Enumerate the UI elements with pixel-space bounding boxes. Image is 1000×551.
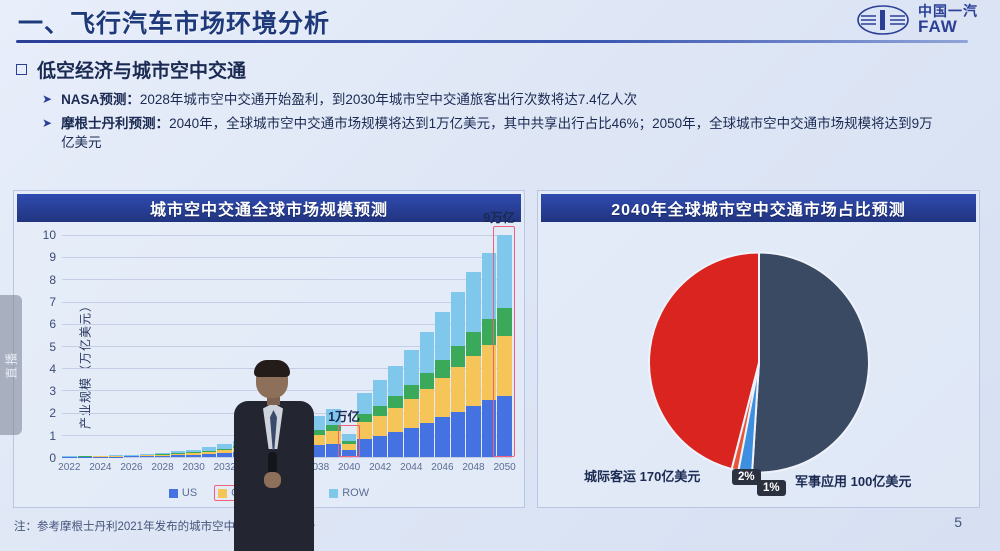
y-axis-tick: 3	[49, 384, 56, 398]
bar-column	[171, 235, 186, 457]
bar-segment-eu	[420, 373, 435, 389]
legend-swatch	[281, 489, 290, 498]
bar-segment-us	[233, 452, 248, 457]
legend-label: China	[231, 487, 260, 499]
bar-segment-us	[497, 396, 512, 457]
y-axis-tick: 10	[43, 228, 56, 242]
bar-column	[202, 235, 217, 457]
bar-segment-us	[342, 450, 357, 457]
bar-segment-row	[435, 312, 450, 360]
x-axis-tick: 2026	[120, 462, 142, 473]
pie-callout-value: 100亿美元	[851, 474, 912, 489]
faw-logo-icon	[856, 4, 910, 36]
brand-text: 中国一汽 FAW	[918, 4, 978, 36]
pie-chart-title: 2040年全球城市空中交通市场占比预测	[541, 194, 976, 222]
bar-segment-china	[420, 389, 435, 423]
bar-segment-china	[482, 345, 497, 401]
pie-chart: 货物运输5170亿美元51%共享出行4570亿美元46%城际客运 170亿美元2…	[542, 225, 975, 503]
x-axis-tick: 2022	[58, 462, 80, 473]
bar-segment-china	[466, 356, 481, 406]
bar-column: 2030	[186, 235, 201, 457]
bar-segment-china	[451, 367, 466, 411]
x-axis-tick: 2038	[307, 462, 329, 473]
bar-segment-us	[124, 456, 139, 457]
bar-plot-area: 012345678910 202220242026202820302032203…	[62, 235, 512, 457]
bar-chart-legend: USChinaEUROW	[18, 485, 520, 501]
bar-column: 2024	[93, 235, 108, 457]
bar-segment-us	[264, 450, 279, 457]
x-axis-tick: 2036	[276, 462, 298, 473]
bar-segment-row	[451, 292, 466, 346]
bar-segment-china	[404, 399, 419, 428]
bullet-text: NASA预测：2028年城市空中交通开始盈利，到2030年城市空中交通旅客出行次…	[61, 90, 637, 110]
y-axis-tick: 5	[49, 340, 56, 354]
bar-segment-us	[295, 447, 310, 457]
x-axis-tick: 2048	[462, 462, 484, 473]
bar-column	[78, 235, 93, 457]
bar-segment-us	[466, 406, 481, 457]
bar-column: 2028	[155, 235, 170, 457]
legend-label: ROW	[342, 487, 369, 499]
y-axis-tick: 6	[49, 317, 56, 331]
bar-column: 2026	[124, 235, 139, 457]
bar-segment-row	[482, 253, 497, 318]
bar-segment-us	[186, 455, 201, 457]
bar-segment-us	[140, 456, 155, 457]
bar-segment-china	[280, 441, 295, 449]
bar-segment-china	[295, 438, 310, 447]
bar-column	[233, 235, 248, 457]
bar-column: 2022	[62, 235, 77, 457]
bar-segment-row	[420, 332, 435, 373]
bar-segment-row	[373, 380, 388, 406]
bar-segment-eu	[373, 406, 388, 416]
x-axis-tick: 2040	[338, 462, 360, 473]
bar-chart-panel: 城市空中交通全球市场规模预测 产业规模（万亿美元） 012345678910 2…	[13, 190, 525, 508]
bar-segment-eu	[482, 319, 497, 345]
legend-item-row[interactable]: ROW	[326, 486, 372, 500]
bar-column: 2048	[466, 235, 481, 457]
page-title: 一、飞行汽车市场环境分析	[18, 4, 330, 40]
bar-segment-row	[249, 437, 264, 444]
bar-segment-us	[326, 444, 341, 457]
bar-column: 2050	[497, 235, 512, 457]
bar-column	[109, 235, 124, 457]
bar-segment-china	[388, 408, 403, 432]
bar-column: 2032	[217, 235, 232, 457]
bar-segment-us	[155, 456, 170, 457]
side-tab-label: 直播	[3, 351, 20, 379]
legend-swatch	[329, 489, 338, 498]
bar-segment-eu	[435, 360, 450, 378]
pie-svg	[643, 247, 875, 479]
y-axis-tick: 0	[49, 451, 56, 465]
x-axis-tick: 2034	[245, 462, 267, 473]
bar-segment-row	[466, 272, 481, 332]
bullet-lead: NASA预测：	[61, 92, 140, 107]
bar-segment-us	[357, 439, 372, 457]
bar-segment-us	[373, 436, 388, 457]
bar-segment-us	[388, 432, 403, 457]
bullet-body-text: 2040年，全球城市空中交通市场规模将达到1万亿美元，其中共享出行占比46%；2…	[61, 116, 933, 151]
bar-segment-china	[373, 416, 388, 436]
title-divider	[16, 40, 968, 43]
bar-column	[295, 235, 310, 457]
x-axis-tick: 2046	[431, 462, 453, 473]
bar-segment-us	[404, 428, 419, 457]
bar-column	[264, 235, 279, 457]
gridline: 0	[62, 457, 512, 458]
bar-column	[388, 235, 403, 457]
bar-segment-row	[404, 350, 419, 386]
bar-chart-title: 城市空中交通全球市场规模预测	[17, 194, 521, 222]
bar-segment-china	[326, 431, 341, 443]
bar-segment-us	[311, 445, 326, 457]
bar-column	[451, 235, 466, 457]
pie-callout-value: 170亿美元	[640, 469, 701, 484]
y-axis-tick: 8	[49, 273, 56, 287]
square-bullet-icon	[16, 64, 27, 75]
y-axis-tick: 4	[49, 362, 56, 376]
page-number: 5	[954, 514, 962, 530]
bar-column: 2046	[435, 235, 450, 457]
x-axis-tick: 2050	[493, 462, 515, 473]
pie-callout-label: 城际客运	[584, 469, 640, 484]
y-axis-tick: 9	[49, 250, 56, 264]
x-axis-tick: 2030	[183, 462, 205, 473]
brand-name-cn: 中国一汽	[918, 4, 978, 18]
y-axis-tick: 7	[49, 295, 56, 309]
slide-header: 一、飞行汽车市场环境分析 中国一汽 FAW	[0, 0, 1000, 50]
bar-column	[482, 235, 497, 457]
pie-chart-panel: 2040年全球城市空中交通市场占比预测 货物运输5170亿美元51%共享出行45…	[537, 190, 980, 508]
legend-label: EU	[294, 487, 309, 499]
bar-segment-row	[280, 427, 295, 437]
x-axis-tick: 2032	[214, 462, 236, 473]
bar-column: 2034	[249, 235, 264, 457]
bar-segment-row	[497, 235, 512, 308]
bar-column: 2042	[373, 235, 388, 457]
y-axis-tick: 2	[49, 406, 56, 420]
arrow-bullet-icon: ➤	[42, 90, 52, 110]
legend-label: US	[182, 487, 197, 499]
bar-segment-eu	[388, 396, 403, 408]
bar-segment-china	[311, 435, 326, 446]
bar-annotation-label: 1万亿	[328, 406, 360, 425]
bullet-text: 摩根士丹利预测：2040年，全球城市空中交通市场规模将达到1万亿美元，其中共享出…	[61, 114, 941, 153]
bullet-lead: 摩根士丹利预测：	[61, 116, 169, 131]
arrow-bullet-icon: ➤	[42, 114, 52, 153]
bar-series-container: 2022202420262028203020322034203620382040…	[62, 235, 512, 457]
bar-segment-us	[280, 449, 295, 457]
legend-swatch	[169, 489, 178, 498]
bar-segment-eu	[466, 332, 481, 356]
bar-segment-row	[388, 366, 403, 396]
side-tab[interactable]: 直播	[0, 295, 22, 435]
x-axis-tick: 2024	[89, 462, 111, 473]
bar-segment-row	[264, 432, 279, 440]
legend-item-eu[interactable]: EU	[278, 486, 312, 500]
pie-callout-2: 城际客运 170亿美元	[584, 468, 700, 486]
x-axis-tick: 2028	[151, 462, 173, 473]
bar-column	[420, 235, 435, 457]
bar-segment-eu	[497, 308, 512, 336]
bar-chart-body: 产业规模（万亿美元） 012345678910 2022202420262028…	[18, 225, 520, 503]
y-axis-tick: 1	[49, 429, 56, 443]
bar-segment-us	[482, 400, 497, 457]
legend-swatch	[218, 489, 227, 498]
footnote: 注：参考摩根士丹利2021年发布的城市空中交通的研究报告	[14, 518, 316, 534]
pie-slice-0[interactable]	[752, 253, 869, 473]
bullet-item: ➤ NASA预测：2028年城市空中交通开始盈利，到2030年城市空中交通旅客出…	[42, 90, 976, 110]
bar-column: 2038	[311, 235, 326, 457]
brand-name-en: FAW	[918, 18, 978, 35]
bar-segment-row	[342, 434, 357, 441]
bar-segment-eu	[404, 385, 419, 399]
bar-segment-us	[451, 412, 466, 458]
bar-segment-us	[217, 453, 232, 457]
bar-segment-china	[497, 336, 512, 396]
pie-chart-body: 货物运输5170亿美元51%共享出行4570亿美元46%城际客运 170亿美元2…	[542, 225, 975, 503]
bar-segment-us	[435, 417, 450, 457]
bar-segment-us	[202, 454, 217, 457]
bar-segment-us	[171, 455, 186, 457]
bar-segment-us	[249, 451, 264, 457]
bar-column: 2044	[404, 235, 419, 457]
pie-callout-label: 军事应用	[795, 474, 851, 489]
bar-segment-row	[295, 422, 310, 434]
bar-column: 2036	[280, 235, 295, 457]
x-axis-tick: 2042	[369, 462, 391, 473]
bullet-content: 低空经济与城市空中交通 ➤ NASA预测：2028年城市空中交通开始盈利，到20…	[16, 56, 976, 157]
section-heading-label: 低空经济与城市空中交通	[37, 56, 246, 83]
x-axis-tick: 2044	[400, 462, 422, 473]
section-heading: 低空经济与城市空中交通	[16, 56, 976, 83]
bar-chart: 产业规模（万亿美元） 012345678910 2022202420262028…	[18, 225, 520, 503]
legend-item-china[interactable]: China	[214, 485, 264, 501]
bar-annotation-label: 9万亿	[483, 207, 515, 226]
pie-graphic	[643, 247, 875, 484]
pie-callout-3: 军事应用 100亿美元	[795, 473, 911, 491]
bar-segment-eu	[451, 346, 466, 367]
legend-item-us[interactable]: US	[166, 486, 200, 500]
bullet-body-text: 2028年城市空中交通开始盈利，到2030年城市空中交通旅客出行次数将达7.4亿…	[140, 92, 637, 107]
bullet-item: ➤ 摩根士丹利预测：2040年，全球城市空中交通市场规模将达到1万亿美元，其中共…	[42, 114, 976, 153]
bar-segment-us	[420, 423, 435, 457]
bar-segment-row	[311, 416, 326, 430]
pie-percent-badge-3: 1%	[757, 480, 786, 496]
bar-column	[140, 235, 155, 457]
brand-logo: 中国一汽 FAW	[856, 2, 978, 38]
bar-segment-china	[435, 378, 450, 417]
